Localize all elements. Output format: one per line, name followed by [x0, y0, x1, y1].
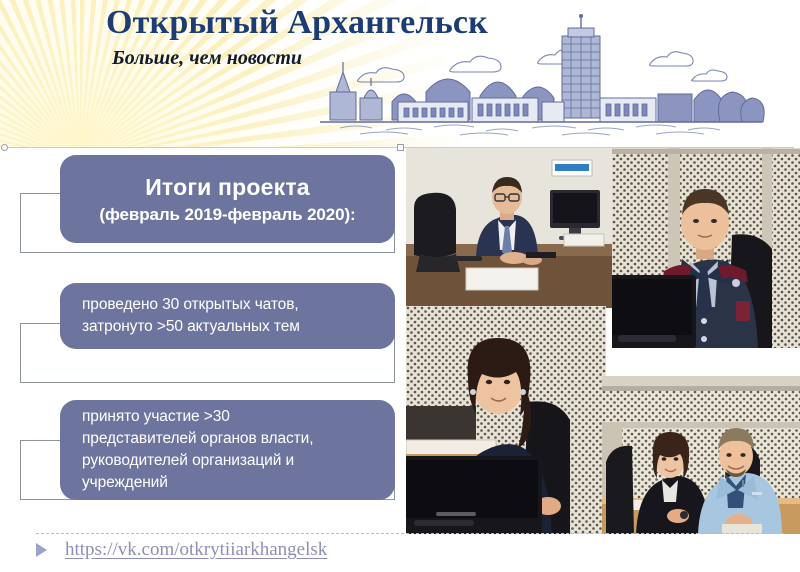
photo-pair-seated — [602, 376, 800, 534]
callout-3-line-2: представителей органов власти, — [82, 428, 373, 450]
photo-woman-desk — [406, 306, 606, 534]
selection-handle-middle[interactable] — [397, 144, 404, 151]
presentation-slide: Открытый Архангельск Больше, чем новости… — [0, 0, 800, 572]
photo-official-desk — [406, 148, 616, 308]
callout-2-line-2: затронуто >50 актуальных тем — [82, 316, 373, 338]
callout-3-line-1: принято участие >30 — [82, 406, 373, 428]
vk-community-link[interactable]: https://vk.com/otkrytiiarkhangelsk — [65, 539, 327, 561]
photo-police-officer — [612, 148, 800, 348]
callout-participants-stat: принято участие >30 представителей орган… — [60, 400, 395, 500]
callout-1-subheading: (февраль 2019-февраль 2020): — [99, 205, 355, 225]
selection-handle-left[interactable] — [1, 144, 8, 151]
callout-3-line-4: учреждений — [82, 472, 373, 494]
callout-3-line-3: руководителей организаций и — [82, 450, 373, 472]
callout-2-text: проведено 30 открытых чатов, затронуто >… — [82, 294, 373, 339]
brand-tagline: Больше, чем новости — [112, 47, 302, 70]
brand-title: Открытый Архангельск — [106, 4, 488, 42]
callout-1-heading: Итоги проекта — [145, 174, 310, 200]
footer-link-row[interactable]: https://vk.com/otkrytiiarkhangelsk — [36, 539, 327, 561]
callout-2-line-1: проведено 30 открытых чатов, — [82, 294, 373, 316]
play-triangle-icon — [36, 543, 47, 557]
callout-project-results: Итоги проекта (февраль 2019-февраль 2020… — [60, 155, 395, 243]
callout-open-chats-stat: проведено 30 открытых чатов, затронуто >… — [60, 283, 395, 349]
footer-dashed-divider — [36, 533, 784, 534]
photo-collage — [406, 148, 800, 534]
callout-3-text: принято участие >30 представителей орган… — [82, 406, 373, 494]
slide-header: Открытый Архангельск Больше, чем новости — [0, 0, 800, 148]
